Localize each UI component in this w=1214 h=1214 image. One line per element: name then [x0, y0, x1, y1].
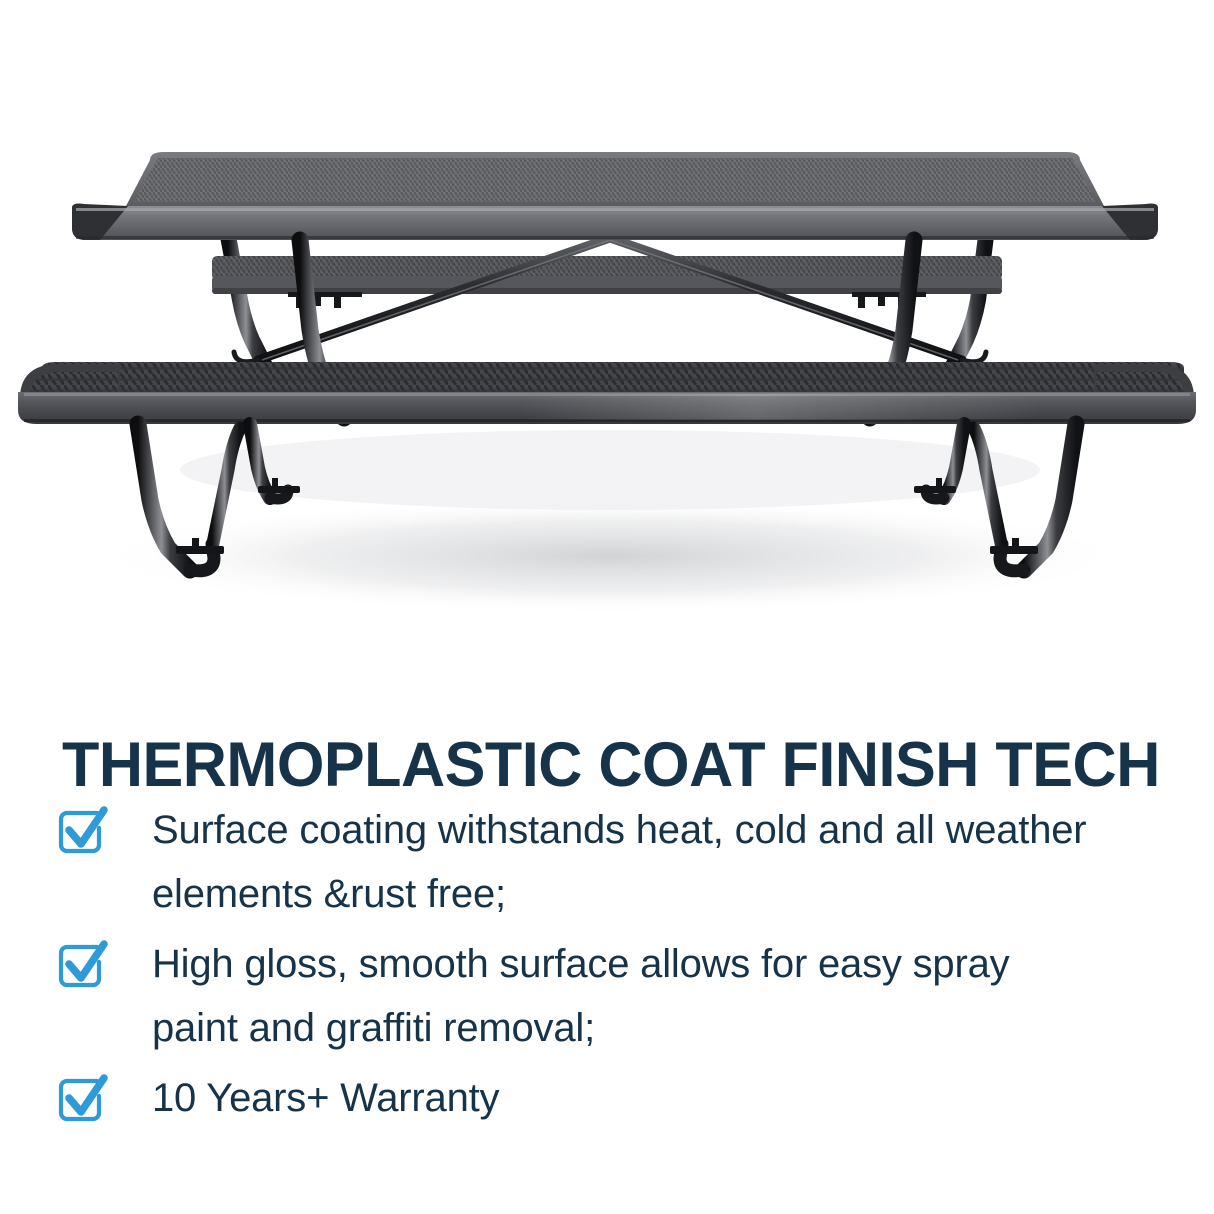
feature-item: Surface coating withstands heat, cold an…: [56, 798, 1196, 926]
rear-bench: [212, 256, 1002, 308]
checkbox-cell: [56, 798, 152, 856]
feature-text: Surface coating withstands heat, cold an…: [152, 798, 1196, 926]
floor-shadow-soft: [180, 430, 1040, 510]
checkbox-checked-icon: [56, 1072, 108, 1124]
feature-line: paint and graffiti removal;: [152, 996, 1196, 1060]
anchor-plate: [914, 486, 956, 493]
feature-list: Surface coating withstands heat, cold an…: [56, 798, 1196, 1136]
feature-line: elements &rust free;: [152, 862, 1196, 926]
feature-item: High gloss, smooth surface allows for ea…: [56, 932, 1196, 1060]
anchor-plate: [258, 486, 300, 493]
feature-line: Surface coating withstands heat, cold an…: [152, 798, 1196, 862]
feature-text: High gloss, smooth surface allows for ea…: [152, 932, 1196, 1060]
feature-text: 10 Years+ Warranty: [152, 1066, 1196, 1130]
table-top: [72, 152, 1158, 240]
checkbox-checked-icon: [56, 804, 108, 856]
floor-shadow: [90, 498, 1130, 614]
picnic-table-illustration: [0, 0, 1214, 660]
feature-line: 10 Years+ Warranty: [152, 1066, 1196, 1130]
front-bench: [18, 362, 1196, 424]
checkbox-cell: [56, 932, 152, 990]
checkbox-checked-icon: [56, 938, 108, 990]
anchor-plate: [176, 546, 224, 554]
page-title: THERMOPLASTIC COAT FINISH TECH: [62, 734, 1148, 796]
product-image: [0, 0, 1214, 660]
feature-line: High gloss, smooth surface allows for ea…: [152, 932, 1196, 996]
feature-item: 10 Years+ Warranty: [56, 1066, 1196, 1130]
checkbox-cell: [56, 1066, 152, 1124]
